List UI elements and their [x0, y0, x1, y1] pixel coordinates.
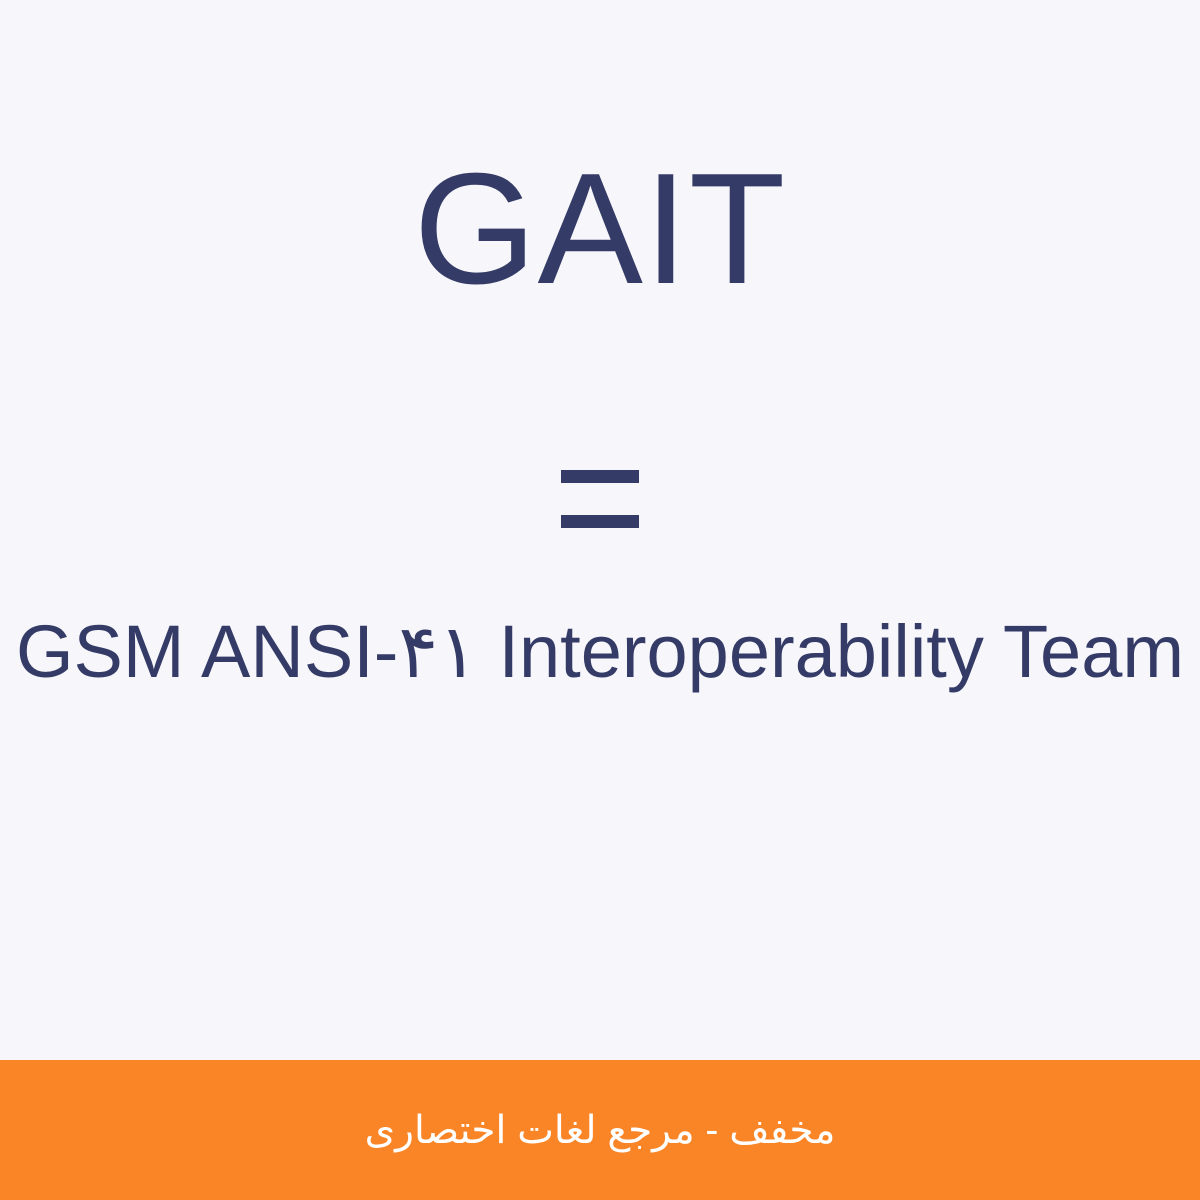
- site-footer-bar: مخفف - مرجع لغات اختصاری: [0, 1060, 1200, 1200]
- equals-bar-top: [561, 470, 639, 483]
- acronym-title: GAIT: [0, 150, 1200, 308]
- expansion-clip-container: GSM ANSI-۴۱ Interoperability Team: [0, 600, 1200, 710]
- equals-sign-icon: [561, 470, 639, 528]
- expansion-text: GSM ANSI-۴۱ Interoperability Team: [16, 600, 1184, 704]
- card-stage: GAIT GSM ANSI-۴۱ Interoperability Team: [0, 0, 1200, 1060]
- footer-branding-text: مخفف - مرجع لغات اختصاری: [365, 1111, 836, 1150]
- equals-bar-bottom: [561, 515, 639, 528]
- abbreviation-card: GAIT GSM ANSI-۴۱ Interoperability Team م…: [0, 0, 1200, 1200]
